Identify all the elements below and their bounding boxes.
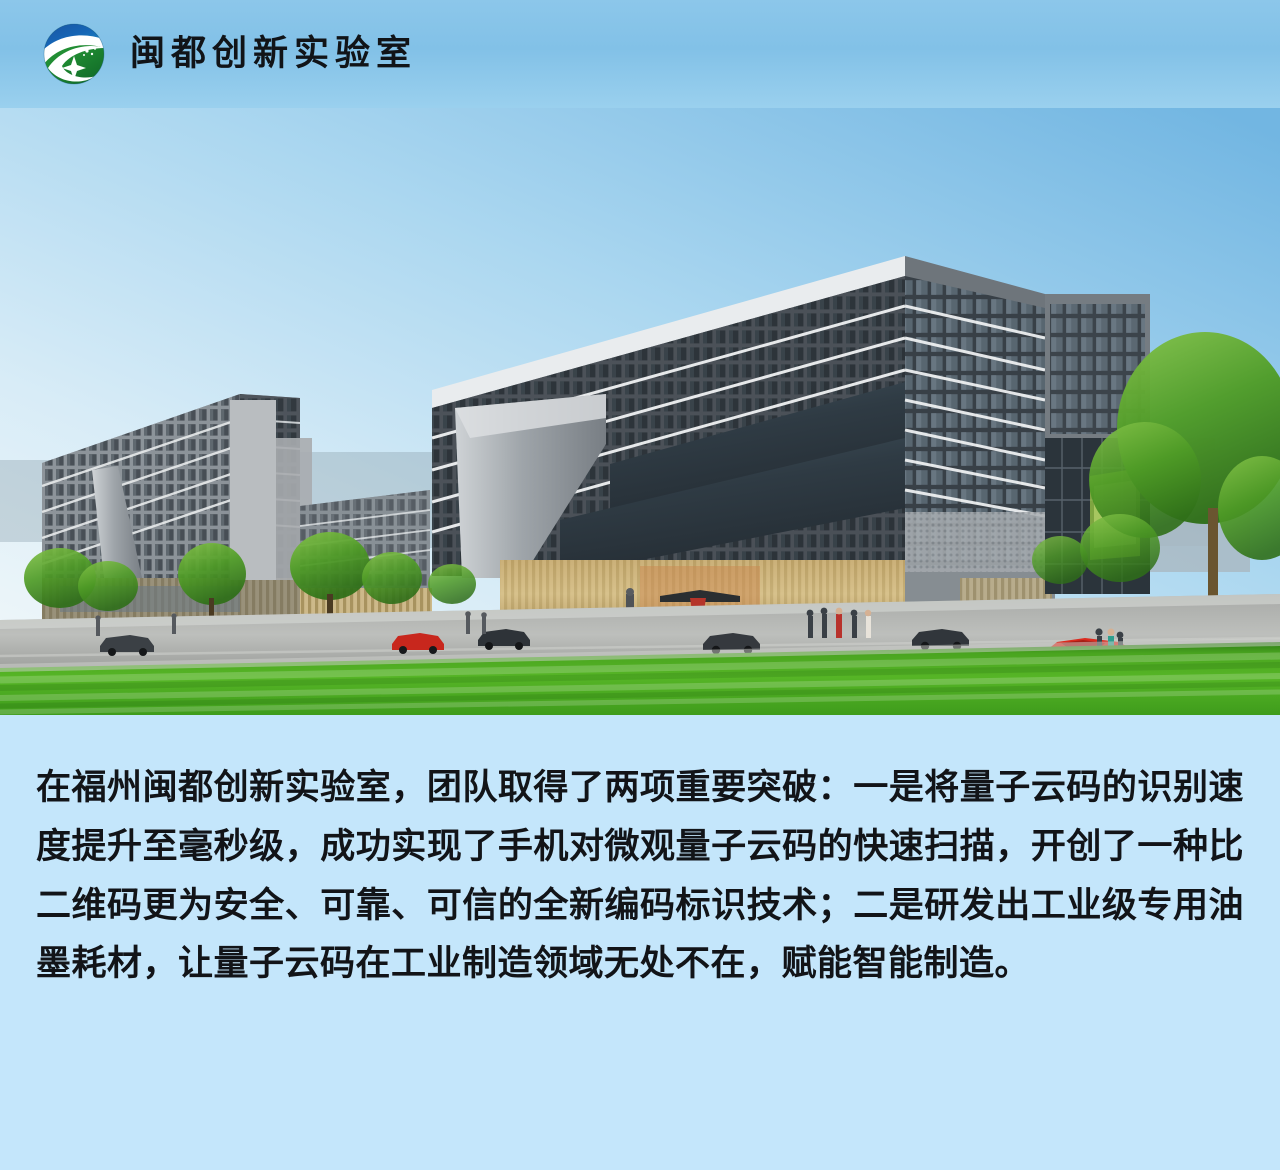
caption-body-text: 在福州闽都创新实验室，团队取得了两项重要突破：一是将量子云码的识别速度提升至毫秒… <box>36 759 1244 994</box>
campus-building-photo: 018 高新区光电产业基地 GAOXIN OPTOELECTRONIC INDU… <box>0 108 1280 715</box>
page-header: 闽都创新实验室 <box>0 0 1280 108</box>
caption-panel: 在福州闽都创新实验室，团队取得了两项重要突破：一是将量子云码的识别速度提升至毫秒… <box>0 715 1280 1170</box>
page-root: 闽都创新实验室 <box>0 0 1280 1170</box>
globe-swoosh-logo-icon <box>40 20 108 88</box>
brand-title: 闽都创新实验室 <box>130 37 417 72</box>
